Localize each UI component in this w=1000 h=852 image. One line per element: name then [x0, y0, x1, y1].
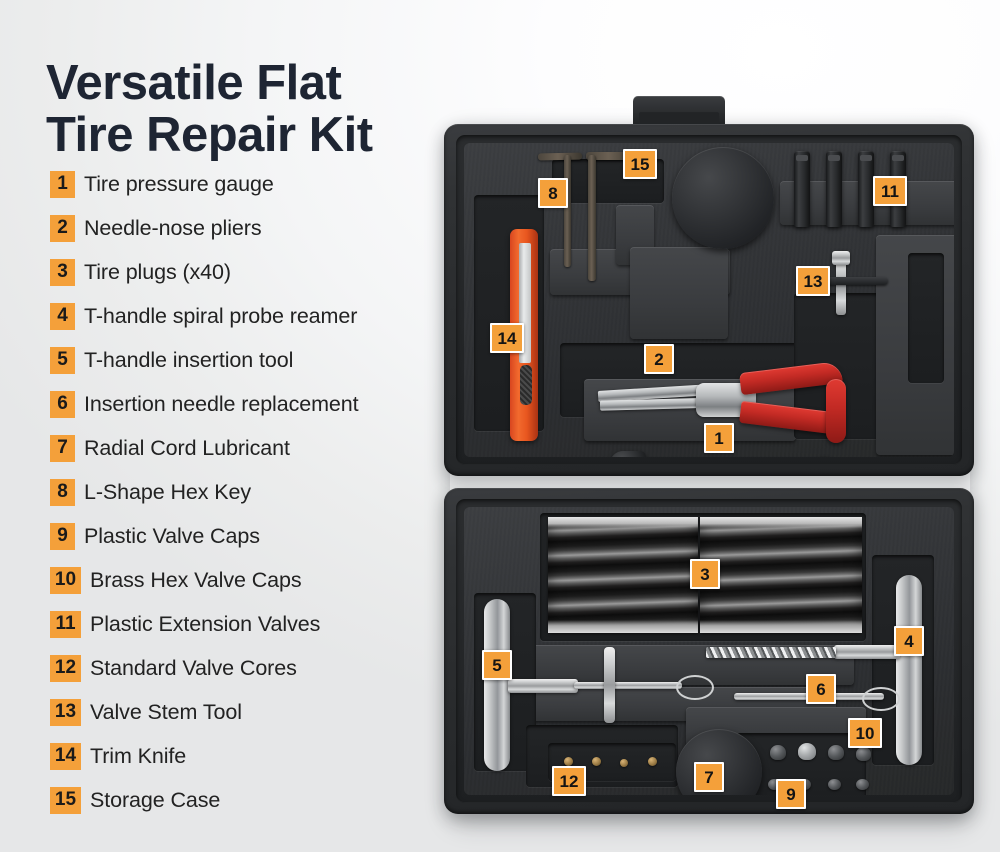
feature-label: Valve Stem Tool — [90, 700, 242, 725]
feature-number-badge: 13 — [50, 699, 81, 726]
feature-label: Trim Knife — [90, 744, 186, 769]
list-item: 11 Plastic Extension Valves — [50, 602, 450, 646]
list-item: 10 Brass Hex Valve Caps — [50, 558, 450, 602]
case-lid-recess — [672, 147, 774, 249]
replacement-needle-eye — [862, 687, 900, 711]
pliers-handle-bend — [826, 379, 846, 443]
feature-label: T-handle spiral probe reamer — [84, 304, 357, 329]
feature-number-badge: 15 — [50, 787, 81, 814]
case-lower-rim — [456, 499, 962, 803]
feature-number-badge: 12 — [50, 655, 81, 682]
feature-list: 1 Tire pressure gauge 2 Needle-nose plie… — [50, 162, 450, 822]
insertion-tool-neck — [508, 679, 578, 693]
list-item: 5 T-handle insertion tool — [50, 338, 450, 382]
trim-knife-grip — [520, 365, 532, 405]
callout-badge-2: 2 — [644, 344, 674, 374]
feature-label: Plastic Extension Valves — [90, 612, 320, 637]
list-item: 14 Trim Knife — [50, 734, 450, 778]
feature-number-badge: 6 — [50, 391, 75, 418]
callout-badge-13: 13 — [796, 266, 830, 296]
feature-number-badge: 5 — [50, 347, 75, 374]
feature-number-badge: 9 — [50, 523, 75, 550]
feature-label: Storage Case — [90, 788, 220, 813]
feature-label: Radial Cord Lubricant — [84, 436, 290, 461]
brass-hex-valve-cap — [856, 747, 871, 761]
feature-number-badge: 4 — [50, 303, 75, 330]
callout-badge-10: 10 — [848, 718, 882, 748]
callout-badge-3: 3 — [690, 559, 720, 589]
callout-badge-15: 15 — [623, 149, 657, 179]
callout-badge-8: 8 — [538, 178, 568, 208]
brass-hex-valve-cap — [798, 743, 816, 760]
list-item: 12 Standard Valve Cores — [50, 646, 450, 690]
list-item: 9 Plastic Valve Caps — [50, 514, 450, 558]
callout-badge-5: 5 — [482, 650, 512, 680]
callout-badge-11: 11 — [873, 176, 907, 206]
feature-label: Plastic Valve Caps — [84, 524, 260, 549]
case-lower-tray — [464, 507, 954, 795]
list-item: 3 Tire plugs (x40) — [50, 250, 450, 294]
callout-badge-1: 1 — [704, 423, 734, 453]
feature-label: L-Shape Hex Key — [84, 480, 251, 505]
extension-valve — [794, 151, 810, 227]
extension-valve — [858, 151, 874, 227]
list-item: 2 Needle-nose pliers — [50, 206, 450, 250]
callout-badge-9: 9 — [776, 779, 806, 809]
valve-stem-tool-head — [832, 251, 850, 265]
feature-number-badge: 2 — [50, 215, 75, 242]
list-item: 7 Radial Cord Lubricant — [50, 426, 450, 470]
list-item: 13 Valve Stem Tool — [50, 690, 450, 734]
callout-badge-6: 6 — [806, 674, 836, 704]
brass-hex-valve-cap — [828, 745, 844, 760]
callout-badge-7: 7 — [694, 762, 724, 792]
list-item: 1 Tire pressure gauge — [50, 162, 450, 206]
valve-core — [592, 757, 601, 766]
valve-core — [564, 757, 573, 766]
tire-pressure-gauge-head — [610, 451, 646, 457]
list-item: 15 Storage Case — [50, 778, 450, 822]
list-item: 8 L-Shape Hex Key — [50, 470, 450, 514]
insertion-tool-needle-eye — [676, 675, 714, 700]
title-line-1: Versatile Flat — [46, 59, 466, 107]
title-line-2: Tire Repair Kit — [46, 111, 466, 159]
feature-label: Standard Valve Cores — [90, 656, 297, 681]
valve-core — [648, 757, 657, 766]
feature-label: T-handle insertion tool — [84, 348, 293, 373]
hex-key-large-shaft — [588, 155, 596, 281]
extension-valve — [826, 151, 842, 227]
tire-plug-bundle-right — [700, 517, 862, 633]
reamer-neck — [834, 645, 900, 659]
product-photo: 15 8 11 13 14 2 1 3 4 5 6 10 12 7 9 — [428, 96, 988, 818]
feature-number-badge: 7 — [50, 435, 75, 462]
feature-label: Brass Hex Valve Caps — [90, 568, 302, 593]
poster-root: Versatile Flat Tire Repair Kit 1 Tire pr… — [0, 0, 1000, 852]
feature-number-badge: 8 — [50, 479, 75, 506]
callout-badge-14: 14 — [490, 323, 524, 353]
plastic-valve-cap — [828, 779, 841, 790]
hex-key-small-arm — [538, 153, 582, 161]
hex-key-small-shaft — [564, 155, 571, 267]
tire-plug-bundle-left — [548, 517, 698, 633]
feature-number-badge: 11 — [50, 611, 81, 638]
reamer-spiral-probe — [706, 647, 836, 658]
page-title: Versatile Flat Tire Repair Kit — [46, 59, 466, 159]
insertion-tool-collar — [604, 647, 615, 723]
feature-label: Tire pressure gauge — [84, 172, 274, 197]
valve-core — [620, 759, 628, 767]
brass-hex-valve-cap — [770, 745, 786, 760]
feature-number-badge: 1 — [50, 171, 75, 198]
valve-stem-tool-shaft — [836, 259, 846, 315]
insertion-tool-shaft — [574, 682, 682, 689]
feature-label: Insertion needle replacement — [84, 392, 359, 417]
feature-label: Tire plugs (x40) — [84, 260, 231, 285]
plastic-valve-cap — [856, 779, 869, 790]
callout-badge-4: 4 — [894, 626, 924, 656]
feature-number-badge: 14 — [50, 743, 81, 770]
feature-label: Needle-nose pliers — [84, 216, 261, 241]
reamer-t-handle — [896, 575, 922, 765]
callout-badge-12: 12 — [552, 766, 586, 796]
insertion-tool-t-handle — [484, 599, 510, 771]
feature-number-badge: 3 — [50, 259, 75, 286]
list-item: 6 Insertion needle replacement — [50, 382, 450, 426]
feature-number-badge: 10 — [50, 567, 81, 594]
list-item: 4 T-handle spiral probe reamer — [50, 294, 450, 338]
